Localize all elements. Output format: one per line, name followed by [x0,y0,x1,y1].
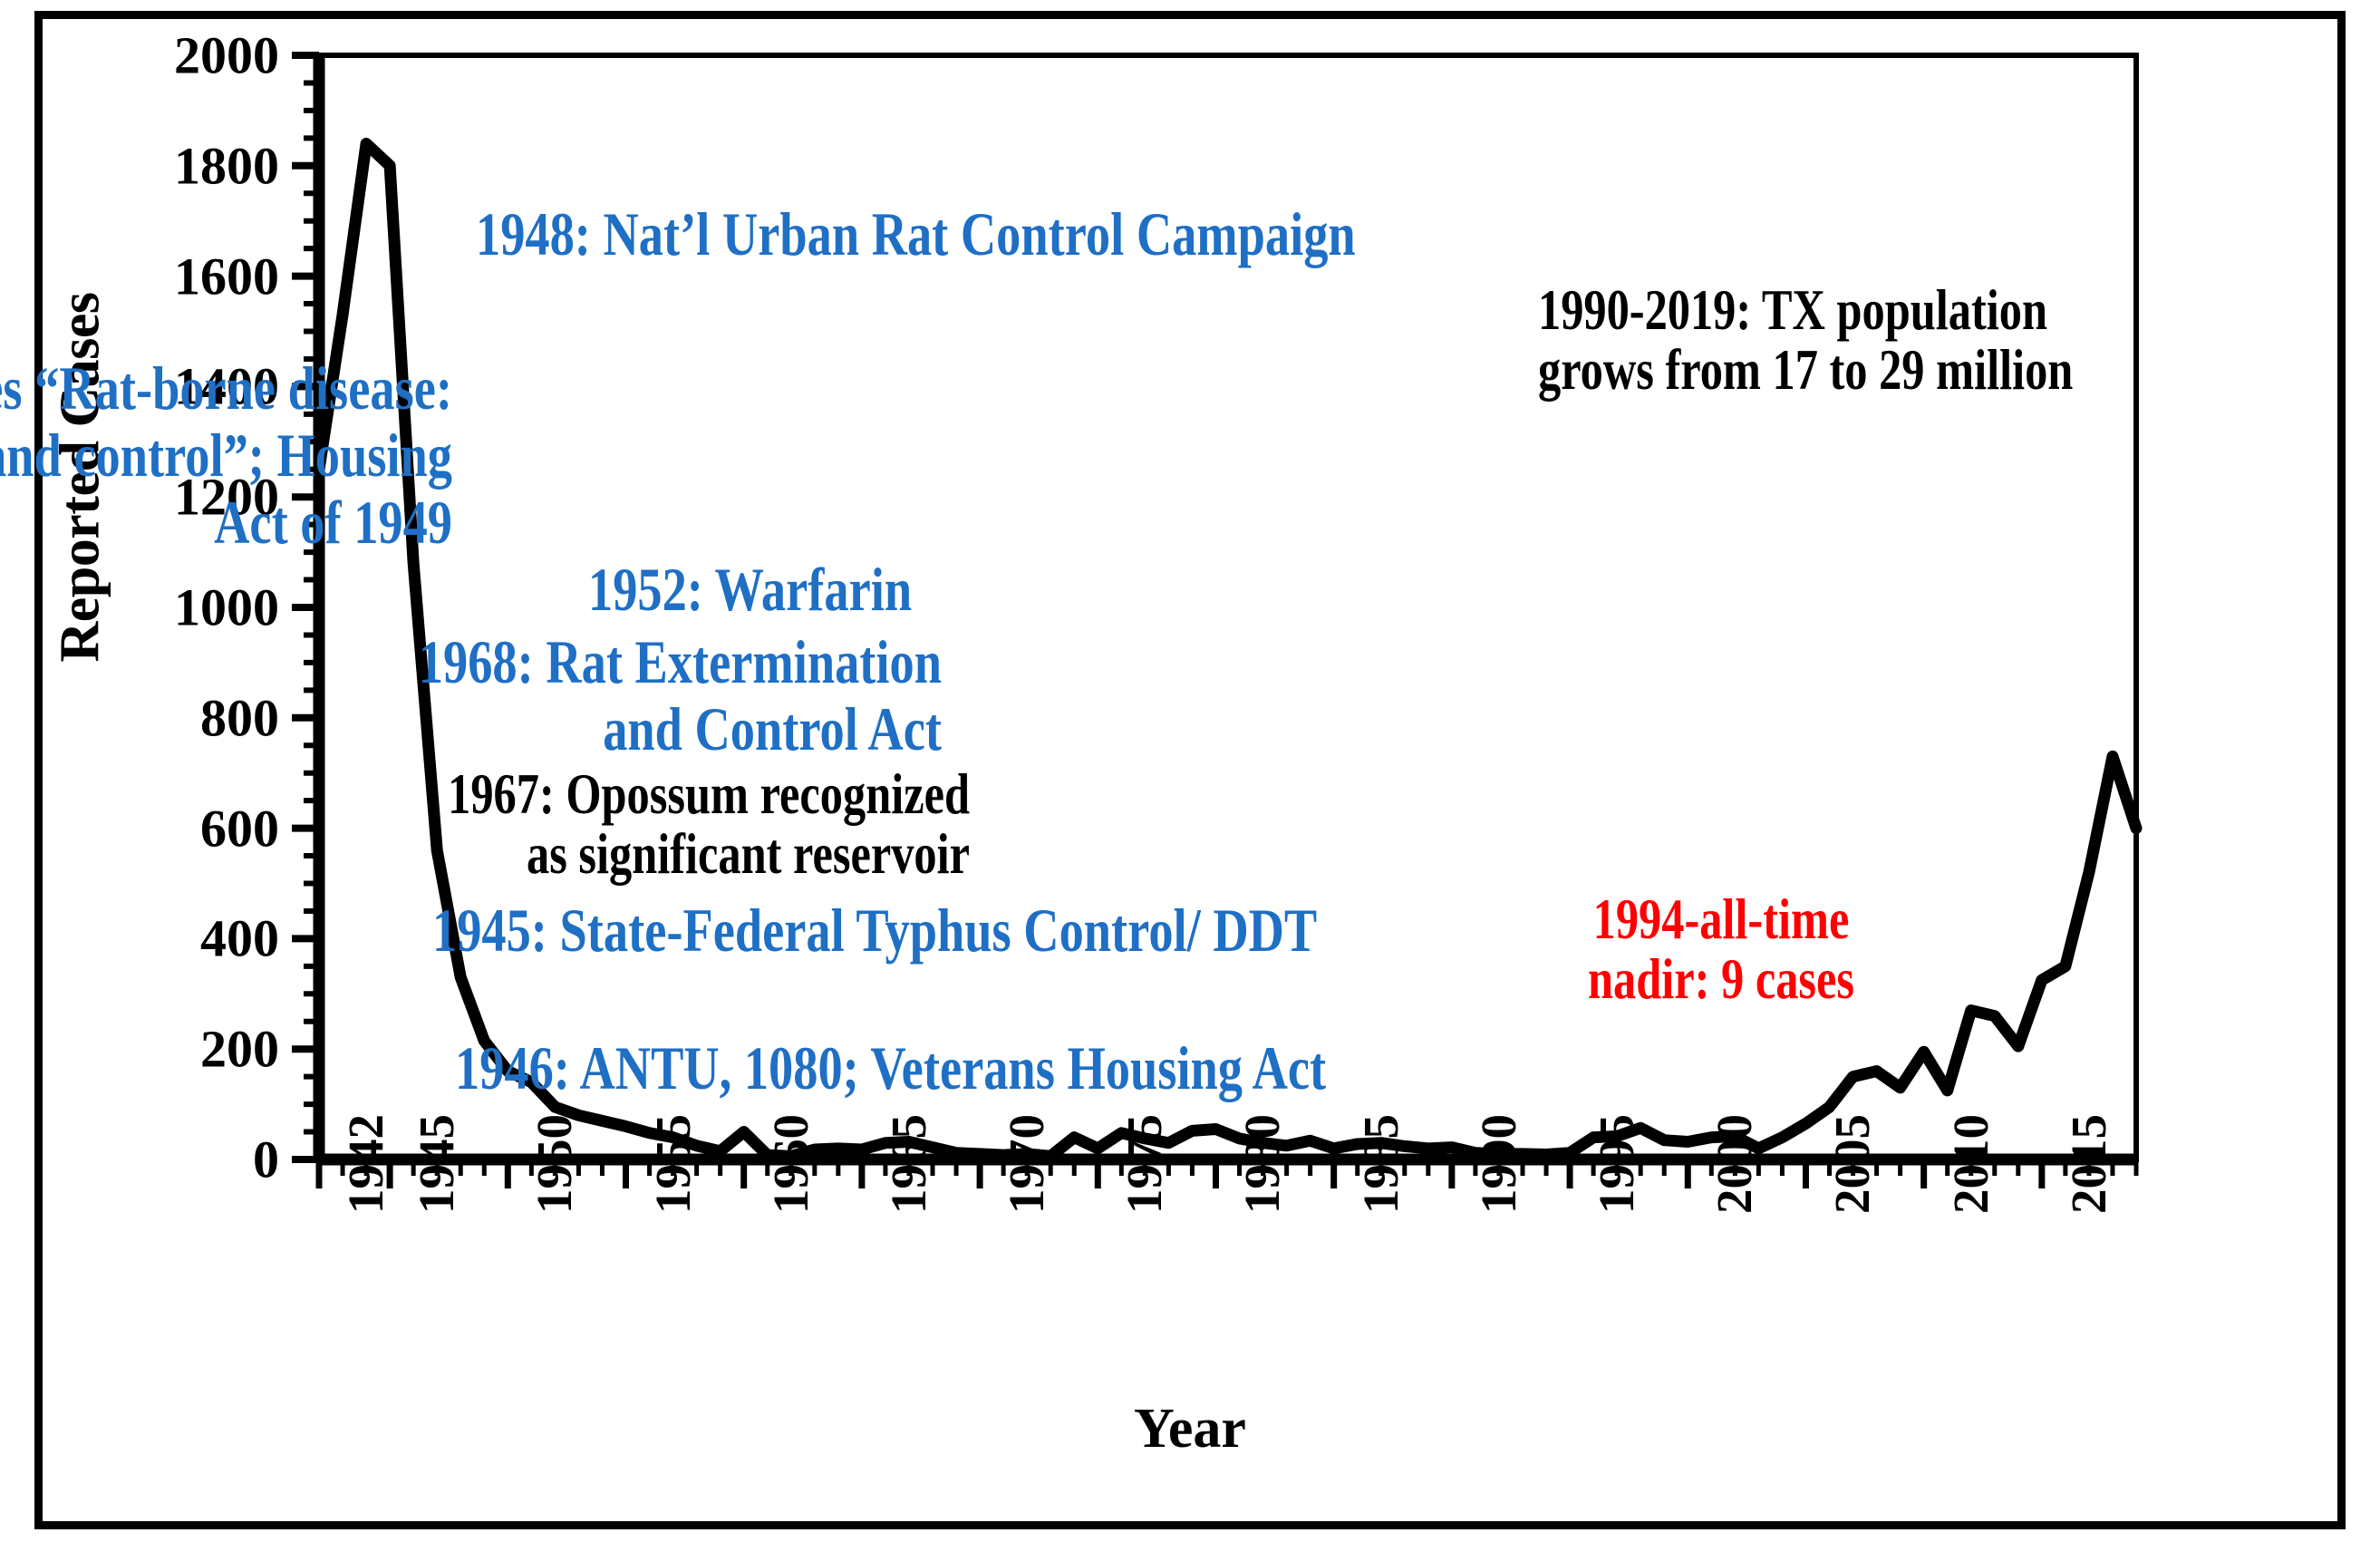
x-tick-label: 2000 [1706,1114,1763,1214]
chart-annotation-line: 1948: Nat’l Urban Rat Control Campaign [476,200,1356,267]
chart-annotation-line: nadir: 9 cases [1588,949,1854,1009]
y-tick-label: 200 [200,1019,279,1080]
y-tick-label: 800 [200,687,279,748]
chart-annotation: 1945: State-Federal Typhus Control/ DDT [432,897,1317,964]
chart-annotation-line: prevention and control”; Housing [0,422,452,489]
chart-annotation: 1946: ANTU, 1080; Veterans Housing Act [455,1034,1326,1101]
y-tick-label: 0 [253,1130,279,1190]
chart-annotation-line: 1994-all-time [1588,889,1854,949]
chart-annotation-line: and Control Act [418,695,941,762]
figure-inner: Reported Cases Year 02004006008001000120… [43,19,2337,1521]
chart-annotation-line: 1968: Rat Extermination [418,628,941,695]
chart-annotation-line: 1967: Opossum recognized [448,764,970,824]
x-tick-label: 1995 [1588,1114,1645,1214]
chart-annotation: 1967: Opossum recognizedas significant r… [448,764,970,884]
x-tick-label: 1985 [1352,1114,1409,1214]
x-tick-label: 2015 [2060,1114,2117,1214]
x-tick-label: 1990 [1470,1114,1527,1214]
y-tick-label: 600 [200,798,279,858]
chart-annotation: 1994-all-timenadir: 9 cases [1588,889,1854,1009]
chart-annotation-line: 1946: ANTU, 1080; Veterans Housing Act [455,1034,1326,1101]
chart-annotation-line: 1990-2019: TX population [1538,280,2073,340]
y-tick-label: 1600 [174,246,279,306]
y-tick-label: 1000 [174,577,279,638]
chart-annotation-line: Act of 1949 [0,489,452,556]
chart-annotation: 1949: CDC releases “Rat-borne disease:pr… [0,354,452,556]
x-tick-label: 1960 [762,1114,819,1214]
y-tick-label: 1800 [174,135,279,196]
x-tick-label: 1955 [644,1114,701,1214]
y-tick-label: 400 [200,908,279,969]
chart-annotation-line: 1949: CDC releases “Rat-borne disease: [0,354,452,422]
chart-annotation-line: 1952: Warfarin [588,556,912,623]
x-tick-label: 1965 [880,1114,937,1214]
chart-annotation-line: grows from 17 to 29 million [1538,340,2073,400]
chart-annotation: 1952: Warfarin [588,556,912,623]
chart-annotation: 1948: Nat’l Urban Rat Control Campaign [476,200,1356,267]
chart-annotation: 1968: Rat Exterminationand Control Act [418,628,941,762]
x-tick-label: 2010 [1942,1114,1999,1214]
x-tick-label: 1945 [408,1114,465,1214]
x-tick-label: 1942 [337,1114,394,1214]
x-tick-label: 1980 [1234,1114,1291,1214]
x-tick-label: 2005 [1824,1114,1881,1214]
x-tick-label: 1970 [998,1114,1055,1214]
y-tick-label: 2000 [174,25,279,86]
x-tick-label: 1975 [1116,1114,1173,1214]
x-tick-label: 1950 [526,1114,583,1214]
figure-frame: Reported Cases Year 02004006008001000120… [34,11,2346,1529]
chart-annotation: 1990-2019: TX populationgrows from 17 to… [1538,280,2073,400]
chart-annotation-line: as significant reservoir [448,824,970,884]
chart-annotation-line: 1945: State-Federal Typhus Control/ DDT [432,897,1317,964]
